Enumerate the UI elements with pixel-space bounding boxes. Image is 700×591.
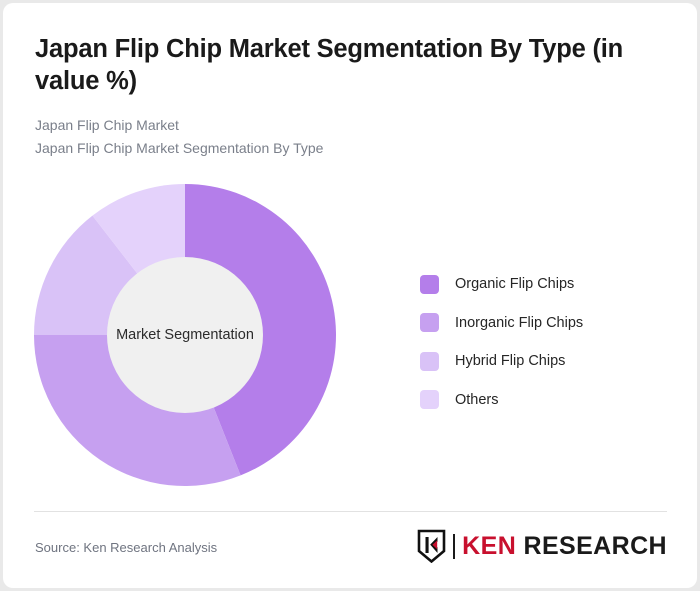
chart-card: Japan Flip Chip Market Segmentation By T…	[3, 3, 697, 588]
legend-swatch	[420, 352, 439, 371]
brand-name-rest: RESEARCH	[516, 532, 667, 560]
chart-legend: Organic Flip ChipsInorganic Flip ChipsHy…	[420, 265, 670, 419]
legend-label: Hybrid Flip Chips	[455, 353, 565, 369]
legend-swatch	[420, 313, 439, 332]
subtitle-line-2: Japan Flip Chip Market Segmentation By T…	[35, 137, 635, 160]
donut-chart: Market Segmentation	[34, 184, 336, 486]
source-note: Source: Ken Research Analysis	[35, 540, 217, 555]
brand-divider	[453, 534, 455, 559]
legend-item[interactable]: Others	[420, 381, 670, 420]
subtitle-line-1: Japan Flip Chip Market	[35, 114, 635, 137]
brand-name-accent: KEN	[462, 532, 516, 560]
brand-name: KEN RESEARCH	[462, 532, 667, 561]
page-title: Japan Flip Chip Market Segmentation By T…	[35, 33, 625, 97]
legend-label: Organic Flip Chips	[455, 276, 574, 292]
legend-swatch	[420, 275, 439, 294]
subtitle-block: Japan Flip Chip Market Japan Flip Chip M…	[35, 114, 635, 159]
legend-item[interactable]: Hybrid Flip Chips	[420, 342, 670, 381]
legend-item[interactable]: Inorganic Flip Chips	[420, 304, 670, 343]
ken-shield-logo-icon	[417, 529, 446, 563]
legend-label: Others	[455, 392, 499, 408]
brand-logo: KEN RESEARCH	[417, 529, 667, 563]
legend-label: Inorganic Flip Chips	[455, 315, 583, 331]
footer-divider	[34, 511, 667, 512]
legend-swatch	[420, 390, 439, 409]
donut-hole	[107, 257, 263, 413]
legend-item[interactable]: Organic Flip Chips	[420, 265, 670, 304]
donut-svg	[34, 184, 336, 486]
